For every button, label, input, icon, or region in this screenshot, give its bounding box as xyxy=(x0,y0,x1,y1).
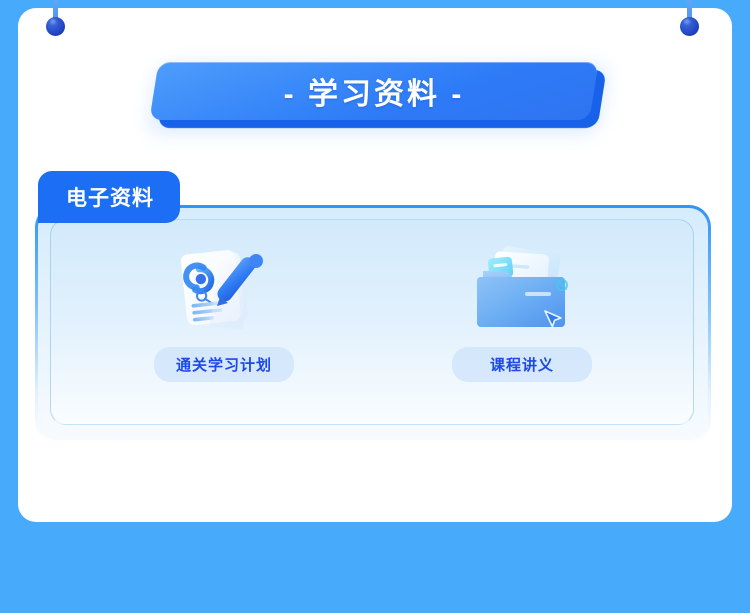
material-item-course-handouts[interactable]: 课程讲义 xyxy=(437,237,607,382)
materials-card: 通关学习计划 xyxy=(35,205,711,443)
pin-left xyxy=(50,0,60,40)
pin-bulb-icon xyxy=(680,17,699,36)
document-pen-icon xyxy=(169,237,279,339)
materials-item-list: 通关学习计划 xyxy=(35,205,711,443)
page-title-banner: - 学习资料 - xyxy=(148,58,608,136)
folder-files-icon xyxy=(467,237,577,339)
page-root: - 学习资料 - 电子资料 xyxy=(0,0,750,613)
pin-bulb-icon xyxy=(46,17,65,36)
page-title: - 学习资料 - xyxy=(154,62,594,120)
tab-label: 电子资料 xyxy=(66,182,154,212)
material-item-label: 通关学习计划 xyxy=(154,347,294,382)
tab-electronic-materials[interactable]: 电子资料 xyxy=(38,171,180,223)
material-item-label: 课程讲义 xyxy=(452,347,592,382)
material-item-study-plan[interactable]: 通关学习计划 xyxy=(139,237,309,382)
pin-right xyxy=(684,0,694,40)
